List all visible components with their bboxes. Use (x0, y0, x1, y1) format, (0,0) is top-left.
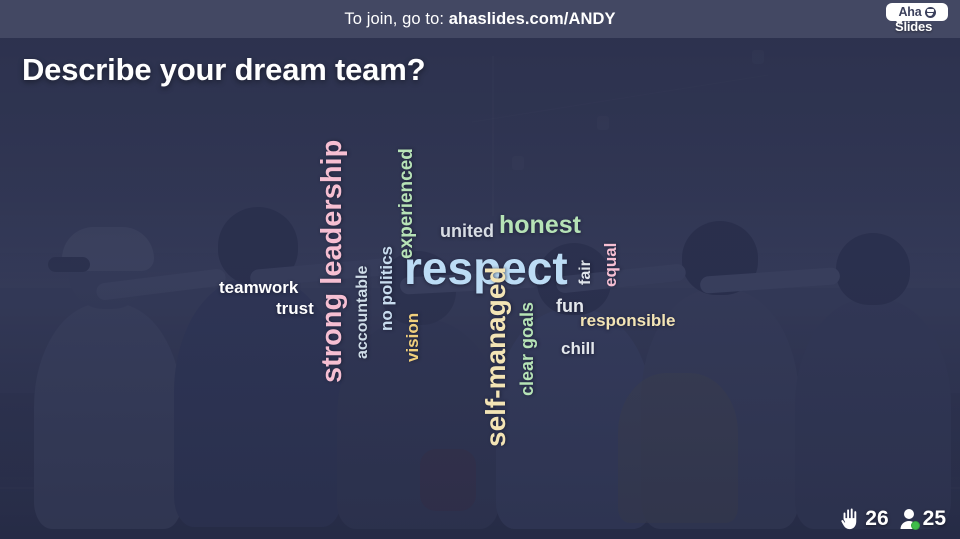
cloud-word: trust (276, 300, 314, 317)
cloud-word: honest (499, 213, 581, 238)
join-bar: To join, go to: ahaslides.com/ANDY (0, 0, 960, 38)
word-cloud: respectstrong leadershipself-managedhone… (0, 38, 960, 539)
cloud-word: responsible (580, 312, 675, 329)
cloud-word: vision (404, 313, 421, 362)
cloud-word: clear goals (518, 302, 536, 396)
cloud-word: united (440, 222, 494, 240)
participant-stat[interactable]: 25 (899, 507, 946, 531)
person-icon (899, 508, 919, 530)
cloud-word: self-managed (482, 267, 510, 448)
hand-raise-count: 26 (865, 507, 888, 531)
cloud-word: fair (578, 260, 594, 285)
slide-stats: 26 25 (839, 507, 946, 531)
participant-count: 25 (923, 507, 946, 531)
cloud-word: fun (556, 297, 584, 315)
cloud-word: equal (602, 243, 619, 287)
logo-slides-text: Slides (895, 19, 932, 34)
page-title: Describe your dream team? (22, 52, 425, 88)
online-status-dot (911, 521, 920, 530)
cloud-word: experienced (397, 148, 416, 259)
logo-aha-text: Aha (898, 6, 921, 19)
smiley-face-icon (925, 7, 936, 18)
join-url-text: ahaslides.com/ANDY (449, 10, 616, 28)
presentation-slide: To join, go to: ahaslides.com/ANDY Aha S… (0, 0, 960, 539)
cloud-word: chill (561, 340, 595, 357)
hand-raise-stat[interactable]: 26 (839, 507, 888, 531)
cloud-word: strong leadership (318, 140, 347, 383)
ahaslides-logo[interactable]: Aha Slides (886, 3, 952, 36)
cloud-word: accountable (355, 266, 371, 359)
join-lead-text: To join, go to: (344, 10, 448, 28)
raised-hand-icon (839, 507, 861, 531)
cloud-word: no politics (378, 246, 395, 331)
join-instruction: To join, go to: ahaslides.com/ANDY (344, 10, 615, 29)
cloud-word: teamwork (219, 279, 298, 296)
